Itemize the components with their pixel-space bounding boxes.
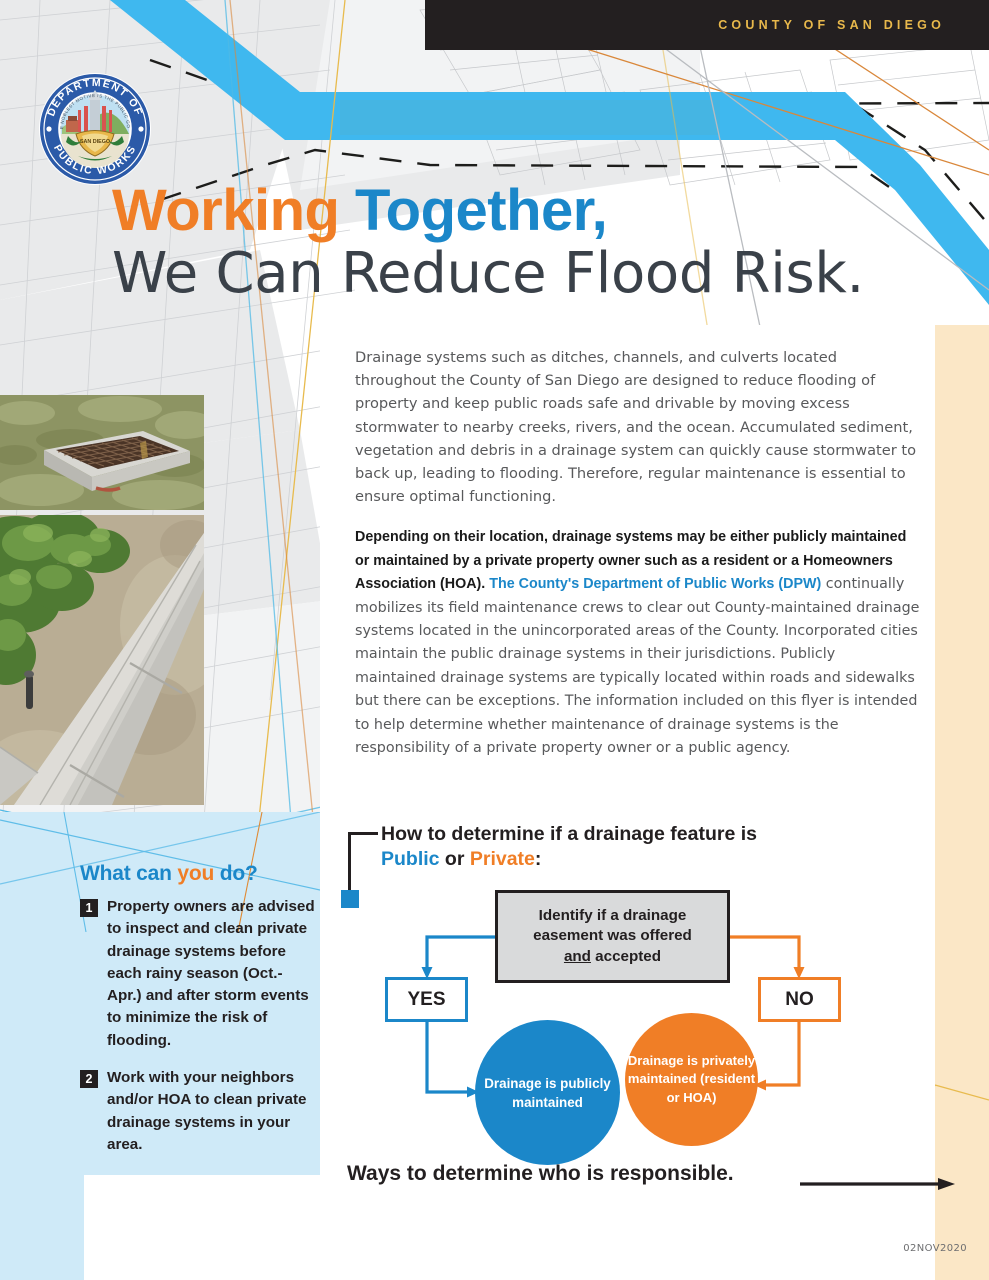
flowchart-heading: How to determine if a drainage feature i… — [381, 822, 901, 872]
list-item-text: Work with your neighbors and/or HOA to c… — [107, 1067, 315, 1156]
yes-branch-box: YES — [385, 977, 468, 1022]
wcyd-title-part-b: do? — [214, 862, 258, 885]
decision-line-1: Identify if a drainage — [539, 907, 687, 924]
flowchart-heading-line1: How to determine if a drainage feature i… — [381, 823, 757, 845]
decision-line-3: accepted — [591, 948, 661, 965]
flowchart-heading-or: or — [440, 848, 470, 870]
yes-label: YES — [407, 989, 445, 1011]
lower-left-blue-block — [0, 1175, 84, 1280]
what-can-you-do-title: What can you do? — [80, 862, 315, 886]
flowchart-heading-public: Public — [381, 848, 440, 870]
private-result-text: Drainage is privately maintained (reside… — [625, 1052, 758, 1108]
flowchart-heading-private: Private — [470, 848, 535, 870]
concrete-drainage-swale-photo — [0, 515, 204, 805]
ways-to-determine-banner: Ways to determine who is responsible. — [347, 1162, 734, 1186]
county-of-san-diego-label: COUNTY OF SAN DIEGO — [718, 18, 945, 32]
list-item-text: Property owners are advised to inspect a… — [107, 896, 315, 1052]
headline-together: Together, — [355, 178, 607, 243]
headline-line-2: We Can Reduce Flood Risk. — [112, 246, 864, 302]
flowchart-heading-text: How to determine if a drainage feature i… — [381, 822, 901, 872]
seal-center-text: SAN DIEGO — [80, 139, 110, 145]
public-result-circle: Drainage is publicly maintained — [475, 1020, 620, 1165]
wcyd-title-part-a: What can — [80, 862, 177, 885]
list-number-badge: 2 — [80, 1070, 98, 1088]
seal-icon: SAN DIEGO DEPARTMENT OF PUBLIC WORKS THE… — [38, 72, 152, 186]
headline-working: Working — [112, 178, 355, 243]
swale-photo-art — [0, 515, 204, 805]
body-paragraph-2: Depending on their location, drainage sy… — [355, 526, 920, 760]
decision-box: Identify if a drainage easement was offe… — [495, 890, 730, 983]
ways-to-determine-arrow — [800, 1178, 955, 1190]
decision-and-emphasis: and — [564, 948, 591, 965]
wcyd-title-you: you — [177, 862, 214, 885]
drainage-decision-flowchart: Identify if a drainage easement was offe… — [320, 880, 935, 1180]
dpw-link-text[interactable]: The County's Department of Public Works … — [489, 576, 821, 592]
list-item: 2 Work with your neighbors and/or HOA to… — [80, 1067, 315, 1156]
heading-elbow-horizontal — [348, 832, 378, 835]
list-item: 1 Property owners are advised to inspect… — [80, 896, 315, 1052]
body-copy-block: Drainage systems such as ditches, channe… — [355, 346, 920, 760]
body-paragraph-1: Drainage systems such as ditches, channe… — [355, 346, 920, 508]
grate-photo-art — [0, 395, 204, 510]
what-can-you-do-block: What can you do? 1 Property owners are a… — [80, 862, 315, 1171]
headline-line-1: Working Together, — [112, 182, 864, 240]
ways-to-determine-text: Ways to determine who is responsible. — [347, 1162, 734, 1185]
list-number-badge: 1 — [80, 899, 98, 917]
decision-line-2: easement was offered — [533, 927, 692, 944]
bottom-white-band — [84, 1175, 935, 1280]
storm-drain-grate-photo — [0, 395, 204, 510]
private-result-circle: Drainage is privately maintained (reside… — [625, 1013, 758, 1146]
flowchart-heading-colon: : — [535, 848, 542, 870]
public-result-text: Drainage is publicly maintained — [475, 1074, 620, 1112]
date-stamp: 02NOV2020 — [903, 1243, 967, 1254]
flyer-page: COUNTY OF SAN DIEGO — [0, 0, 989, 1280]
top-black-band: COUNTY OF SAN DIEGO — [425, 0, 989, 50]
no-branch-box: NO — [758, 977, 841, 1022]
page-title: Working Together, We Can Reduce Flood Ri… — [112, 182, 864, 302]
no-label: NO — [785, 989, 814, 1011]
decision-box-text: Identify if a drainage easement was offe… — [533, 906, 692, 968]
body-paragraph-2-rest: continually mobilizes its field maintena… — [355, 576, 919, 756]
dpw-seal-logo: SAN DIEGO DEPARTMENT OF PUBLIC WORKS THE… — [38, 72, 152, 186]
